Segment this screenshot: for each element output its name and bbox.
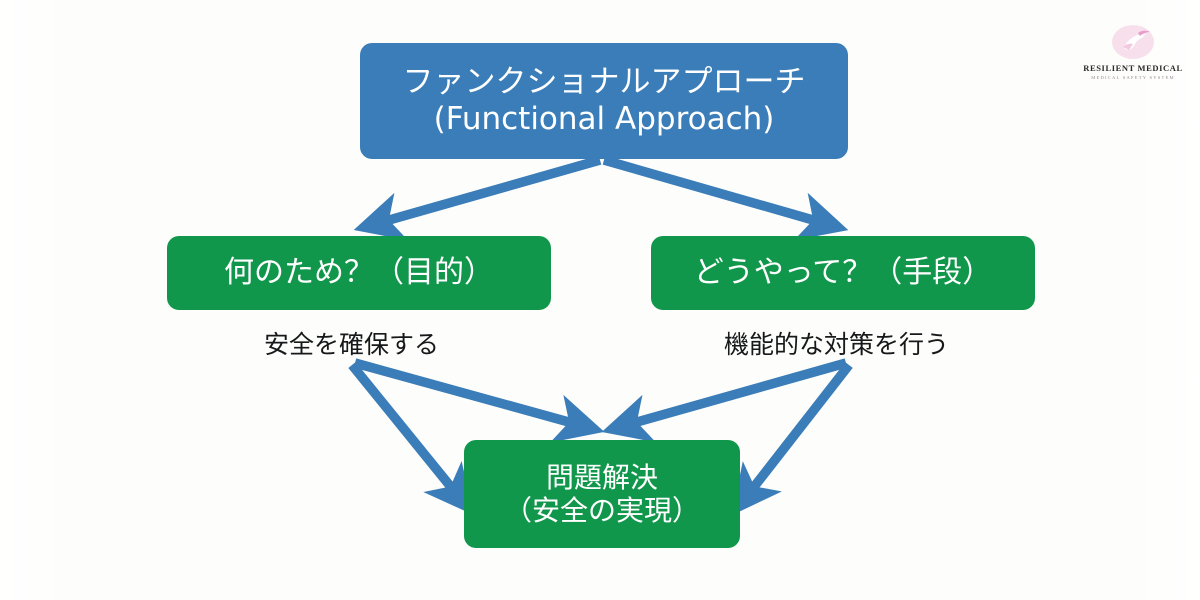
caption-purpose: 安全を確保する [264, 325, 439, 361]
logo-subtitle: MEDICAL SAFETY SYSTEM [1074, 75, 1192, 80]
node-functional-approach[interactable]: ファンクショナルアプローチ (Functional Approach) [360, 43, 848, 159]
node-result[interactable]: 問題解決 （安全の実現） [464, 440, 740, 548]
node-result-line2: （安全の実現） [504, 494, 700, 527]
dove-icon [1074, 22, 1192, 62]
brand-logo: RESILIENT MEDICAL MEDICAL SAFETY SYSTEM [1074, 22, 1192, 94]
node-means-label: どうやって？（手段） [694, 255, 993, 290]
node-root-line1: ファンクショナルアプローチ [403, 64, 806, 101]
arrow-root-to-purpose [382, 160, 600, 222]
arrow-root-to-means [604, 160, 820, 222]
logo-title: RESILIENT MEDICAL [1074, 63, 1192, 73]
node-purpose-label: 何のため？（目的） [224, 255, 494, 290]
caption-means: 機能的な対策を行う [724, 325, 949, 361]
diagram-canvas: ファンクショナルアプローチ (Functional Approach) 何のため… [0, 0, 1200, 600]
node-purpose[interactable]: 何のため？（目的） [167, 236, 551, 310]
node-means[interactable]: どうやって？（手段） [651, 236, 1035, 310]
node-result-line1: 問題解決 [504, 461, 700, 494]
node-root-line2: (Functional Approach) [403, 101, 806, 138]
